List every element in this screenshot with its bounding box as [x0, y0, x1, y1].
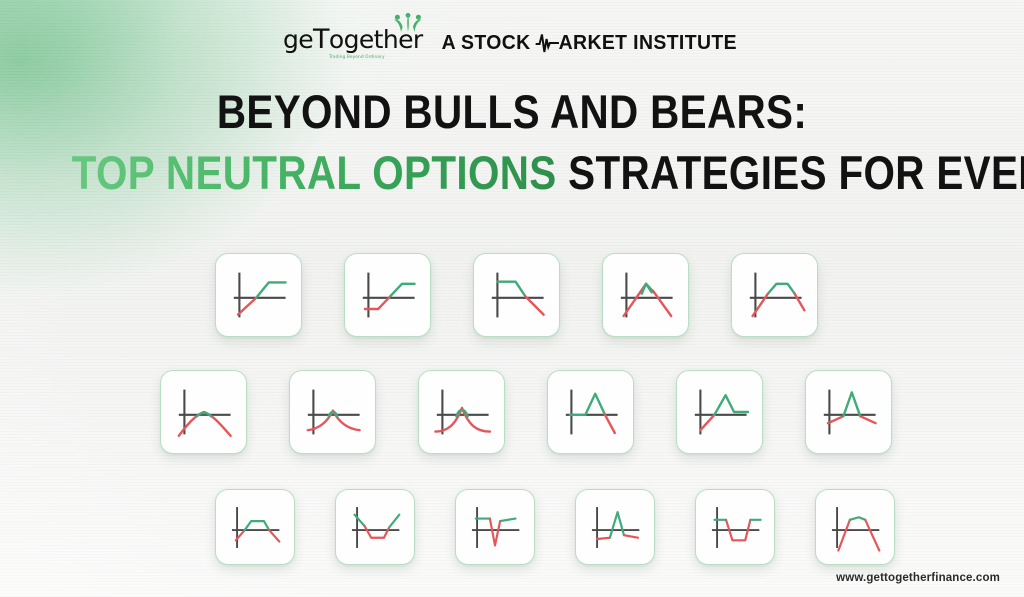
payoff-jade-lizard[interactable] [455, 489, 535, 565]
payoff-short-call-chart [482, 262, 552, 328]
payoff-bull-call-spread[interactable] [344, 253, 431, 337]
strategy-row-1 [215, 253, 818, 337]
payoff-short-butterfly-curve-chart [298, 379, 368, 445]
payoff-long-condor-chart [343, 498, 407, 557]
headline-line-1: BEYOND BULLS AND BEARS: [72, 88, 953, 135]
payoff-bull-call-spread-chart [353, 262, 423, 328]
headline-block: BEYOND BULLS AND BEARS: TOP NEUTRAL OPTI… [0, 88, 1024, 196]
payoff-reverse-iron-condor[interactable] [695, 489, 775, 565]
payoff-long-call-butterfly[interactable] [547, 370, 634, 454]
website-url[interactable]: www.gettogetherfinance.com [836, 572, 1000, 584]
payoff-long-butterfly-curve-chart [427, 379, 497, 445]
payoff-broken-wing-butterfly[interactable] [575, 489, 655, 565]
headline-line-2: TOP NEUTRAL OPTIONS STRATEGIES FOR EVERY… [72, 149, 953, 196]
payoff-jade-lizard-chart [463, 498, 527, 557]
payoff-short-guts-chart [169, 379, 239, 445]
strategy-row-3 [215, 489, 895, 565]
payoff-long-straddle[interactable] [815, 489, 895, 565]
payoff-short-call[interactable] [473, 253, 560, 337]
payoff-iron-butterfly-chart [814, 379, 884, 445]
payoff-short-straddle-chart [611, 262, 681, 328]
strategy-row-2 [160, 370, 892, 454]
payoff-long-call-chart [224, 262, 294, 328]
payoff-short-guts[interactable] [160, 370, 247, 454]
payoff-iron-condor-chart [223, 498, 287, 557]
payoff-short-strangle[interactable] [731, 253, 818, 337]
payoff-long-call-butterfly-chart [556, 379, 626, 445]
headline-rest-black: STRATEGIES FOR EVERY TRADER [557, 146, 1024, 199]
payoff-short-butterfly-curve[interactable] [289, 370, 376, 454]
institute-text-before: A STOCK [441, 32, 530, 55]
payoff-reverse-iron-condor-chart [703, 498, 767, 557]
payoff-long-condor[interactable] [335, 489, 415, 565]
payoff-long-straddle-chart [823, 498, 887, 557]
payoff-short-straddle[interactable] [602, 253, 689, 337]
headline-highlight-green: TOP NEUTRAL OPTIONS [72, 146, 557, 199]
institute-text-after: ARKET INSTITUTE [558, 32, 736, 55]
poster-canvas: geTogether Trading Beyond Ordinary A STO… [0, 0, 1024, 597]
payoff-long-butterfly-curve[interactable] [418, 370, 505, 454]
masthead: geTogether Trading Beyond Ordinary A STO… [0, 26, 1024, 60]
payoff-iron-condor[interactable] [215, 489, 295, 565]
sprout-icon [391, 13, 425, 33]
payoff-broken-wing-butterfly-chart [583, 498, 647, 557]
heartbeat-pulse-icon [534, 31, 559, 55]
payoff-call-ratio-spread-chart [685, 379, 755, 445]
payoff-long-call[interactable] [215, 253, 302, 337]
institute-tagline: A STOCK ARKET INSTITUTE [441, 31, 736, 55]
gettogether-logo[interactable]: geTogether Trading Beyond Ordinary [283, 26, 423, 60]
payoff-call-ratio-spread[interactable] [676, 370, 763, 454]
logo-word-cap: T [313, 24, 329, 55]
payoff-iron-butterfly[interactable] [805, 370, 892, 454]
payoff-short-strangle-chart [740, 262, 810, 328]
logo-tagline: Trading Beyond Ordinary [329, 55, 385, 60]
logo-word-part1: ge [283, 25, 313, 54]
